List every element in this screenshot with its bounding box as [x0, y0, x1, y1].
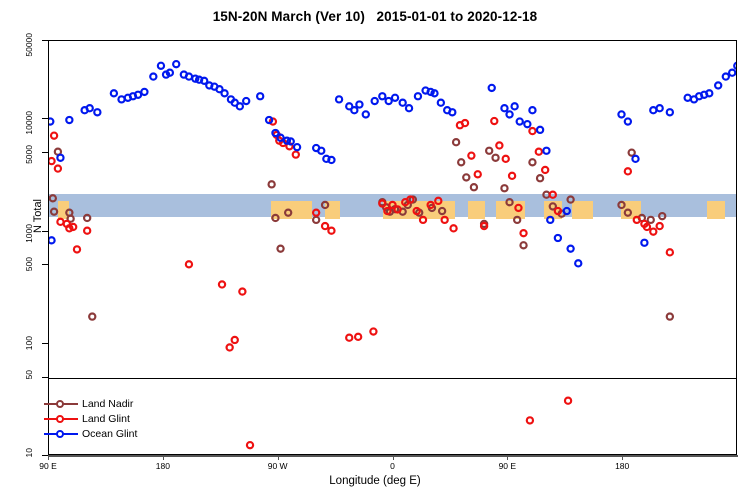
x-tick-label: 0 — [363, 461, 423, 471]
legend-item: Ocean Glint — [44, 426, 137, 441]
data-point — [543, 148, 549, 154]
data-point — [715, 82, 721, 88]
data-point — [489, 85, 495, 91]
x-tick-mark — [278, 455, 279, 460]
data-point — [509, 173, 515, 179]
data-point — [565, 398, 571, 404]
data-point — [66, 117, 72, 123]
data-point — [514, 217, 520, 223]
data-point — [529, 107, 535, 113]
data-point — [84, 228, 90, 234]
data-point — [449, 109, 455, 115]
x-tick-label: 180 — [133, 461, 193, 471]
data-point — [501, 185, 507, 191]
data-point — [219, 281, 225, 287]
data-point — [237, 103, 243, 109]
data-point — [501, 105, 507, 111]
data-point — [356, 101, 362, 107]
data-point — [564, 208, 570, 214]
data-point — [648, 217, 654, 223]
data-point — [555, 208, 561, 214]
data-point — [659, 213, 665, 219]
data-point — [294, 144, 300, 150]
data-point — [462, 120, 468, 126]
data-point — [293, 152, 299, 158]
data-point — [158, 63, 164, 69]
data-point — [641, 240, 647, 246]
data-point — [415, 93, 421, 99]
data-point — [379, 200, 385, 206]
data-point — [243, 98, 249, 104]
data-point — [632, 156, 638, 162]
scatter-points-layer — [49, 41, 736, 454]
data-point — [657, 105, 663, 111]
data-point — [372, 98, 378, 104]
data-point — [94, 109, 100, 115]
data-point — [529, 128, 535, 134]
data-point — [529, 159, 535, 165]
data-point — [492, 155, 498, 161]
data-point — [272, 215, 278, 221]
x-tick-label: 90 E — [477, 461, 537, 471]
legend-item: Land Nadir — [44, 396, 137, 411]
data-point — [667, 249, 673, 255]
data-point — [84, 215, 90, 221]
data-point — [520, 230, 526, 236]
data-point — [322, 202, 328, 208]
data-point — [51, 209, 57, 215]
data-point — [232, 337, 238, 343]
data-point — [173, 61, 179, 67]
x-tick-mark — [393, 455, 394, 460]
data-point — [239, 288, 245, 294]
data-point — [111, 90, 117, 96]
data-point — [625, 118, 631, 124]
data-point — [57, 155, 63, 161]
y-tick-mark — [42, 40, 48, 41]
x-tick-mark — [622, 455, 623, 460]
data-point — [537, 127, 543, 133]
data-point — [515, 205, 521, 211]
data-point — [463, 174, 469, 180]
data-point — [625, 168, 631, 174]
data-point — [55, 165, 61, 171]
data-point — [89, 314, 95, 320]
legend-label: Land Glint — [82, 412, 130, 426]
legend-label: Land Nadir — [82, 397, 133, 411]
data-point — [618, 111, 624, 117]
data-point — [269, 181, 275, 187]
data-point — [49, 158, 55, 164]
data-point — [657, 223, 663, 229]
data-point — [247, 442, 253, 448]
data-point — [520, 242, 526, 248]
data-point — [550, 192, 556, 198]
data-point — [729, 70, 735, 76]
data-point — [734, 63, 736, 69]
data-point — [370, 328, 376, 334]
data-point — [634, 217, 640, 223]
legend-marker-icon — [44, 427, 78, 441]
data-point — [512, 103, 518, 109]
data-point — [491, 118, 497, 124]
data-point — [575, 260, 581, 266]
data-point — [555, 235, 561, 241]
data-point — [392, 95, 398, 101]
data-point — [568, 246, 574, 252]
series-land-nadir — [50, 139, 673, 320]
x-tick-mark — [163, 455, 164, 460]
data-point — [486, 148, 492, 154]
data-point — [524, 121, 530, 127]
data-point — [313, 217, 319, 223]
data-point — [186, 74, 192, 80]
data-point — [503, 156, 509, 162]
data-point — [400, 100, 406, 106]
x-tick-mark — [507, 455, 508, 460]
x-tick-label: 90 W — [248, 461, 308, 471]
y-tick-label: 50000 — [24, 33, 34, 67]
data-point — [406, 105, 412, 111]
data-point — [322, 223, 328, 229]
chart-root: 15N-20N March (Ver 10) 2015-01-01 to 202… — [0, 0, 750, 500]
data-point — [49, 118, 53, 124]
y-tick-label: 50 — [24, 370, 34, 404]
data-point — [568, 196, 574, 202]
data-point — [51, 133, 57, 139]
data-point — [542, 167, 548, 173]
data-point — [328, 157, 334, 163]
data-point — [435, 198, 441, 204]
data-point — [527, 417, 533, 423]
data-point — [723, 74, 729, 80]
data-point — [336, 96, 342, 102]
data-point — [543, 192, 549, 198]
data-point — [537, 175, 543, 181]
data-point — [650, 107, 656, 113]
data-point — [227, 344, 233, 350]
data-point — [221, 90, 227, 96]
data-point — [346, 335, 352, 341]
data-point — [379, 93, 385, 99]
data-point — [313, 210, 319, 216]
data-point — [625, 210, 631, 216]
data-point — [50, 195, 56, 201]
data-point — [629, 150, 635, 156]
series-ocean-glint — [49, 61, 736, 266]
data-point — [386, 98, 392, 104]
data-point — [57, 219, 63, 225]
data-point — [618, 202, 624, 208]
chart-title: 15N-20N March (Ver 10) 2015-01-01 to 202… — [0, 9, 750, 24]
data-point — [328, 228, 334, 234]
data-point — [167, 70, 173, 76]
data-point — [517, 118, 523, 124]
y-tick-mark — [42, 377, 48, 378]
data-point — [355, 334, 361, 340]
legend-marker-icon — [44, 412, 78, 426]
legend-marker-icon — [44, 397, 78, 411]
x-tick-label: 180 — [592, 461, 652, 471]
legend-label: Ocean Glint — [82, 427, 137, 441]
data-point — [667, 314, 673, 320]
data-point — [547, 217, 553, 223]
data-point — [667, 109, 673, 115]
data-point — [475, 171, 481, 177]
plot-area — [48, 40, 737, 455]
series-land-glint — [49, 118, 673, 448]
data-point — [318, 148, 324, 154]
data-point — [439, 208, 445, 214]
data-point — [496, 142, 502, 148]
data-point — [186, 261, 192, 267]
data-point — [506, 199, 512, 205]
data-point — [458, 159, 464, 165]
x-tick-mark — [48, 455, 49, 460]
data-point — [506, 111, 512, 117]
data-point — [285, 210, 291, 216]
data-point — [141, 89, 147, 95]
data-point — [74, 246, 80, 252]
data-point — [442, 217, 448, 223]
data-point — [706, 90, 712, 96]
data-point — [468, 153, 474, 159]
data-point — [351, 107, 357, 113]
legend: Land NadirLand GlintOcean Glint — [44, 396, 137, 441]
data-point — [118, 96, 124, 102]
data-point — [685, 95, 691, 101]
data-point — [420, 217, 426, 223]
y-tick-mark — [42, 152, 48, 153]
data-point — [450, 225, 456, 231]
legend-item: Land Glint — [44, 411, 137, 426]
data-point — [277, 246, 283, 252]
y-tick-label: 100 — [24, 336, 34, 370]
data-point — [438, 100, 444, 106]
data-point — [363, 111, 369, 117]
y-tick-mark — [42, 118, 48, 119]
y-tick-label: 10000 — [24, 111, 34, 145]
data-point — [150, 74, 156, 80]
data-point — [135, 92, 141, 98]
data-point — [87, 105, 93, 111]
data-point — [650, 229, 656, 235]
data-point — [49, 237, 55, 243]
data-point — [257, 93, 263, 99]
y-tick-mark — [42, 343, 48, 344]
data-point — [536, 149, 542, 155]
x-axis-label: Longitude (deg E) — [0, 475, 750, 487]
data-point — [453, 139, 459, 145]
x-tick-label: 90 E — [18, 461, 78, 471]
data-point — [471, 184, 477, 190]
y-axis-label: N Total — [32, 156, 44, 276]
